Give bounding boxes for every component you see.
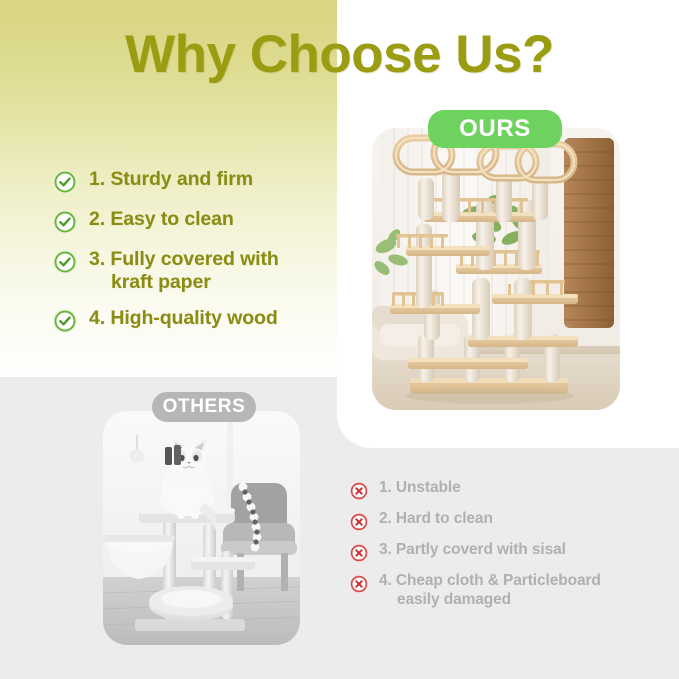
- list-item-label-line2: easily damaged: [379, 591, 601, 610]
- cons-list: 1. Unstable 2. Hard to clean 3. Part: [349, 479, 669, 610]
- list-item: 4. High-quality wood: [52, 307, 352, 334]
- list-item-label: 4. High-quality wood: [89, 307, 278, 330]
- list-item-label-line1: 3. Fully covered with: [89, 248, 279, 270]
- comparison-infographic: Why Choose Us? 1. Sturdy and firm: [0, 0, 679, 679]
- list-item: 3. Fully covered withkraft paper: [52, 248, 352, 294]
- list-item-label: 1. Unstable: [379, 479, 461, 498]
- check-circle-icon: [52, 209, 78, 235]
- list-item-label: 3. Fully covered withkraft paper: [89, 248, 279, 294]
- check-circle-icon: [52, 169, 78, 195]
- x-circle-icon: [349, 574, 369, 594]
- list-item-label-line1: 4. Cheap cloth & Particleboard: [379, 572, 601, 589]
- list-item: 3. Partly coverd with sisal: [349, 541, 669, 563]
- list-item-label: 2. Hard to clean: [379, 510, 493, 529]
- list-item-label: 1. Sturdy and firm: [89, 168, 253, 191]
- list-item-label: 2. Easy to clean: [89, 208, 234, 231]
- ours-badge: OURS: [428, 110, 562, 148]
- list-item: 1. Sturdy and firm: [52, 168, 352, 195]
- ours-product-photo: [372, 128, 620, 410]
- check-circle-icon: [52, 308, 78, 334]
- others-product-photo: [103, 411, 300, 645]
- list-item-label: 4. Cheap cloth & Particleboardeasily dam…: [379, 572, 601, 610]
- list-item-label: 3. Partly coverd with sisal: [379, 541, 566, 560]
- page-title: Why Choose Us?: [0, 24, 679, 85]
- x-circle-icon: [349, 512, 369, 532]
- x-circle-icon: [349, 481, 369, 501]
- others-badge: OTHERS: [152, 392, 256, 422]
- list-item-label-line2: kraft paper: [89, 271, 279, 294]
- list-item: 1. Unstable: [349, 479, 669, 501]
- check-circle-icon: [52, 249, 78, 275]
- x-circle-icon: [349, 543, 369, 563]
- pros-list: 1. Sturdy and firm 2. Easy to clean: [52, 168, 352, 334]
- list-item: 4. Cheap cloth & Particleboardeasily dam…: [349, 572, 669, 610]
- list-item: 2. Hard to clean: [349, 510, 669, 532]
- list-item: 2. Easy to clean: [52, 208, 352, 235]
